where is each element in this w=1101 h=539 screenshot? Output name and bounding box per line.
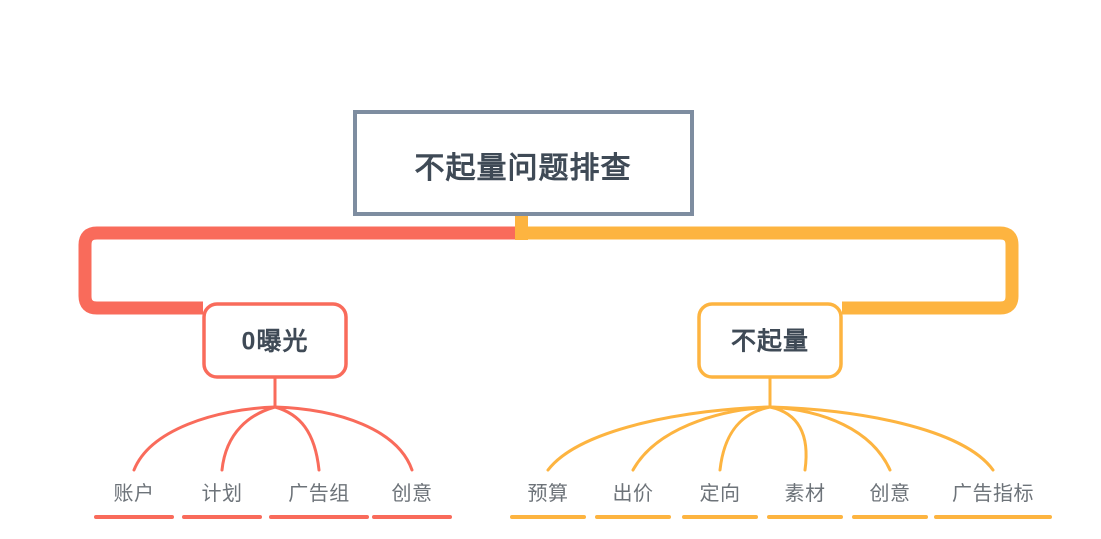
fan-curve-to-budget: [548, 407, 770, 470]
branch-low-volume: 不起量 预算 出价 定向 素材 创意 广告指: [512, 304, 1050, 517]
mindmap-diagram: 不起量问题排查 0曝光 账户 计划: [0, 0, 1101, 539]
leaf-ad-metric[interactable]: 广告指标: [936, 482, 1050, 517]
root-node[interactable]: 不起量问题排查: [355, 112, 692, 214]
leaf-label: 广告指标: [952, 482, 1034, 505]
leaf-label: 创意: [870, 482, 911, 505]
leaf-targeting[interactable]: 定向: [684, 482, 756, 517]
fan-curve-to-adgroup: [275, 407, 319, 470]
branch-node-label: 0曝光: [242, 328, 309, 356]
leaf-budget[interactable]: 预算: [512, 482, 584, 517]
connector-left-red: [85, 233, 521, 308]
root-to-branches-connector: [85, 214, 1012, 308]
branch-node-label: 不起量: [731, 328, 809, 356]
fan-curve-to-targeting: [720, 407, 770, 470]
leaf-label: 出价: [613, 482, 654, 505]
connector-right-orange: [521, 233, 1012, 308]
branch-left-fan: [134, 407, 412, 470]
leaf-label: 素材: [785, 482, 826, 505]
leaf-label: 预算: [528, 482, 569, 505]
branch-zero-exposure: 0曝光 账户 计划 广告组 创意: [96, 304, 450, 517]
leaf-bid[interactable]: 出价: [597, 482, 669, 517]
leaf-label: 账户: [114, 482, 155, 505]
leaf-label: 定向: [700, 482, 741, 505]
branch-node-zero-exposure[interactable]: 0曝光: [204, 304, 346, 377]
fan-curve-to-material: [770, 407, 806, 470]
branch-node-low-volume[interactable]: 不起量: [699, 304, 841, 377]
leaf-label: 广告组: [288, 482, 350, 505]
leaf-label: 计划: [202, 482, 243, 505]
fan-curve-to-plan: [222, 407, 275, 470]
leaf-creative-right[interactable]: 创意: [854, 482, 926, 517]
leaf-label: 创意: [392, 482, 433, 505]
leaf-plan[interactable]: 计划: [184, 482, 260, 517]
leaf-creative-left[interactable]: 创意: [374, 482, 450, 517]
branch-right-fan: [548, 407, 993, 470]
leaf-material[interactable]: 素材: [769, 482, 841, 517]
connector-junction: [515, 226, 528, 240]
leaf-adgroup[interactable]: 广告组: [271, 482, 367, 517]
mindmap-canvas: 不起量问题排查 0曝光 账户 计划: [0, 0, 1101, 539]
root-node-label: 不起量问题排查: [415, 152, 632, 185]
leaf-account[interactable]: 账户: [96, 482, 172, 517]
